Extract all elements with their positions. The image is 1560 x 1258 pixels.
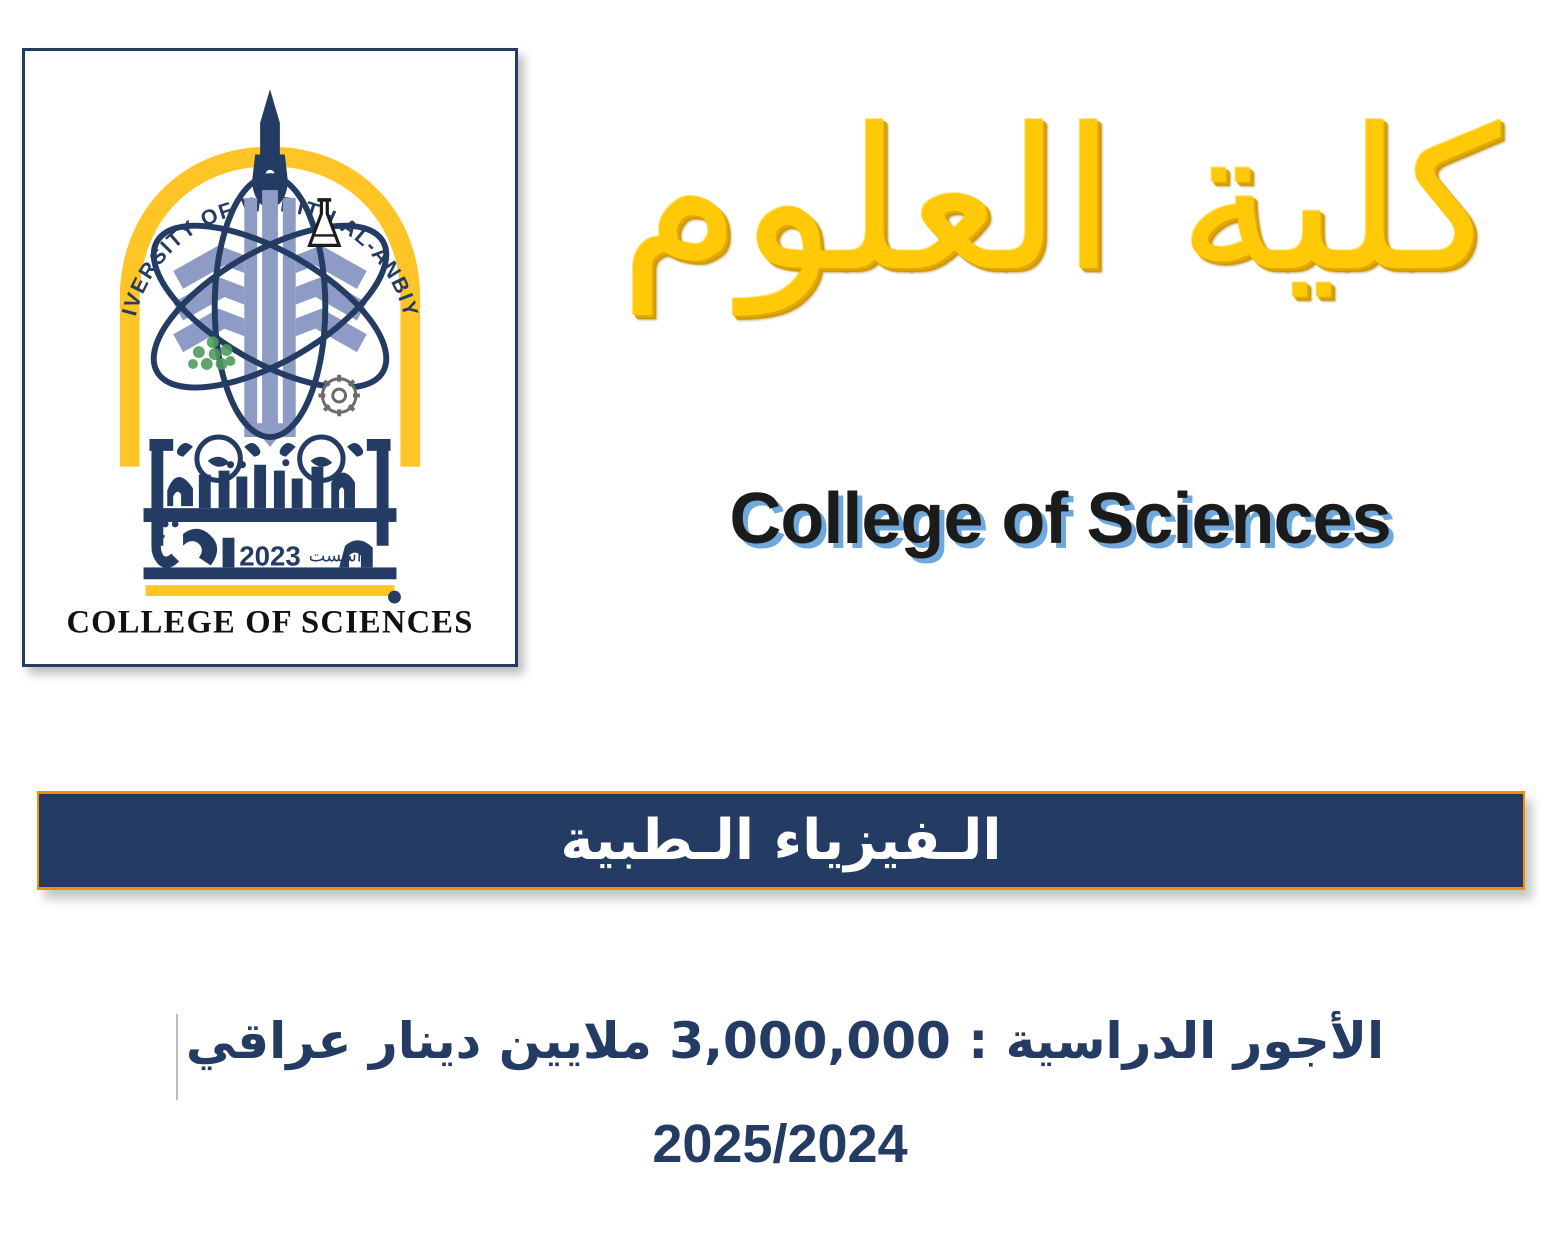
logo-gold-rule: [146, 585, 395, 596]
department-banner: الـفيزياء الـطبية: [37, 791, 1525, 890]
department-name-label: الـفيزياء الـطبية: [560, 813, 1001, 869]
fees-section: الأجور الدراسية : 3,000,000 ملايين دينار…: [0, 1010, 1560, 1171]
page-title-english: College of Sciences: [600, 478, 1520, 560]
academic-year-label: 2025/2024: [0, 1117, 1560, 1171]
page-title-arabic: كلية العلوم: [600, 96, 1520, 308]
logo-card: UNIVERSITY OF WARITH AL-ANBIYAA: [22, 48, 518, 667]
tuition-fee-line: الأجور الدراسية : 3,000,000 ملايين دينار…: [176, 1010, 1384, 1073]
logo-founded-year: 2023: [239, 540, 301, 571]
gear-icon: [318, 375, 359, 416]
text-cursor-icon: [176, 1014, 178, 1100]
logo-founded-label: أسست: [309, 544, 362, 567]
tuition-fee-text: الأجور الدراسية : 3,000,000 ملايين دينار…: [186, 1012, 1384, 1070]
university-logo: UNIVERSITY OF WARITH AL-ANBIYAA: [25, 51, 515, 664]
logo-english-name: COLLEGE OF SCIENCES: [66, 605, 473, 641]
